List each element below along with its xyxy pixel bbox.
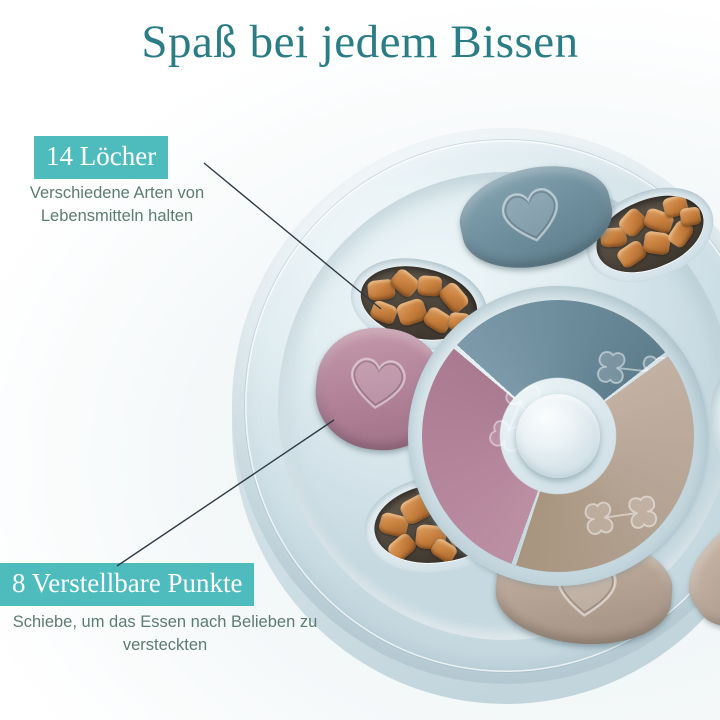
leader-line-points: [0, 0, 720, 720]
product-marketing-image: Spaß bei jedem Bissen 14 Löcher Verschie…: [0, 0, 720, 720]
